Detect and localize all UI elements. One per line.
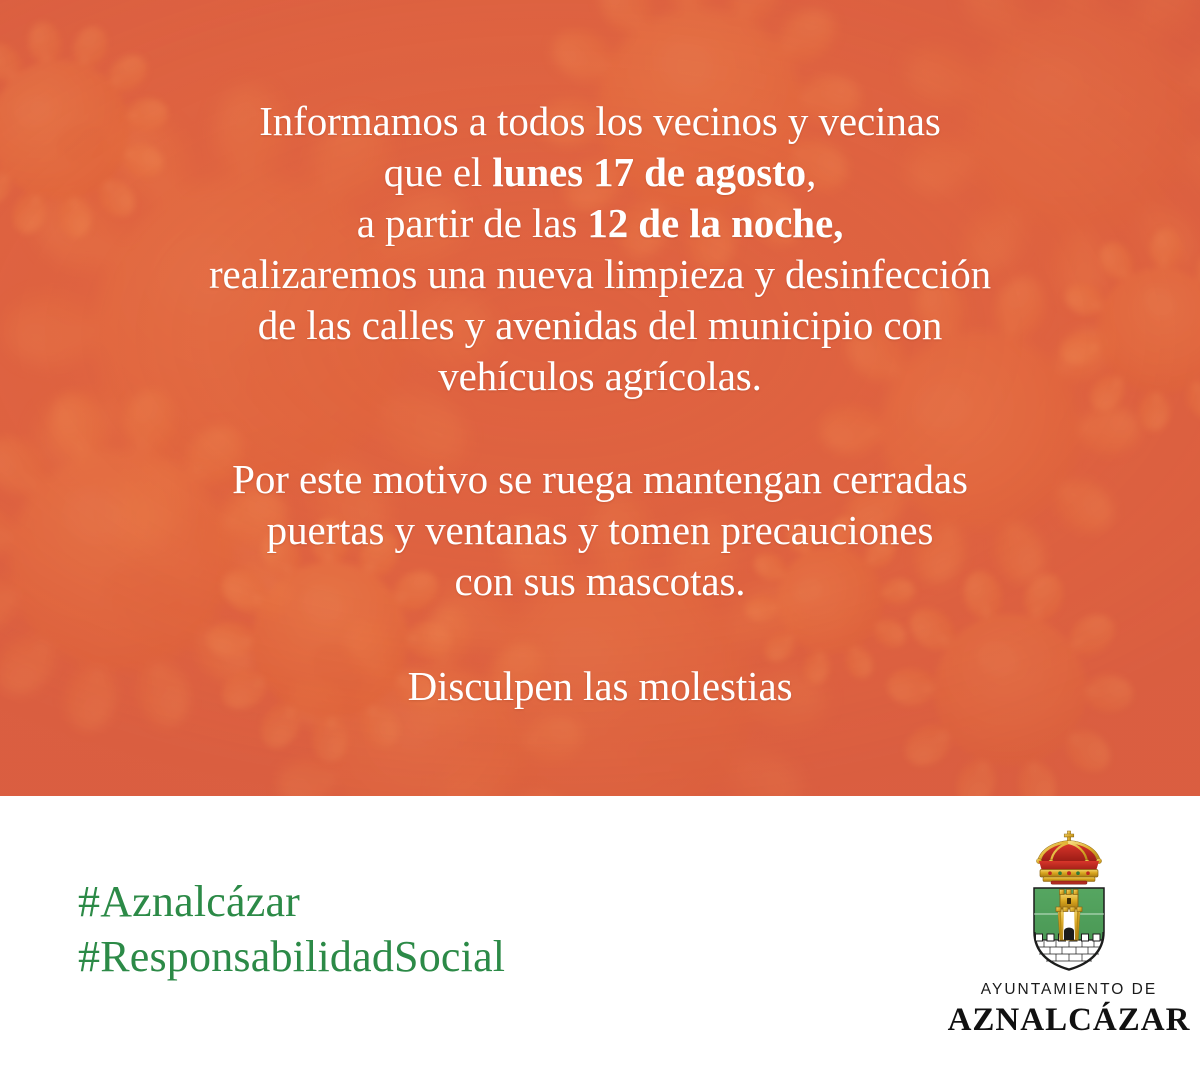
paragraph-spacer-1 xyxy=(0,402,1200,454)
message-line-7: Por este motivo se ruega mantengan cerra… xyxy=(0,454,1200,505)
royal-crown-icon xyxy=(1036,831,1101,884)
message-line-2-emphasis: lunes 17 de agosto xyxy=(492,149,806,195)
message-line-9: con sus mascotas. xyxy=(0,556,1200,607)
ayuntamiento-emblem: AYUNTAMIENTO DE AZNALCÁZAR xyxy=(938,828,1200,1046)
message-line-10: Disculpen las molestias xyxy=(0,661,1200,712)
emblem-caption-main: AZNALCÁZAR xyxy=(938,1001,1200,1039)
emblem-graphic xyxy=(938,828,1200,980)
message-line-8: puertas y ventanas y tomen precauciones xyxy=(0,505,1200,556)
poster-root: Informamos a todos los vecinos y vecinas… xyxy=(0,0,1200,1066)
hashtag-block: #Aznalcázar #ResponsabilidadSocial xyxy=(78,874,505,984)
announcement-message: Informamos a todos los vecinos y vecinas… xyxy=(0,96,1200,712)
tower-icon xyxy=(1056,890,1082,941)
hashtag-aznalcazar[interactable]: #Aznalcázar xyxy=(78,874,505,929)
emblem-caption: AYUNTAMIENTO DE AZNALCÁZAR xyxy=(938,980,1200,1039)
message-line-4: realizaremos una nueva limpieza y desinf… xyxy=(0,249,1200,300)
hashtag-responsabilidad-social[interactable]: #ResponsabilidadSocial xyxy=(78,929,505,984)
message-line-3-prefix: a partir de las xyxy=(357,200,588,246)
paragraph-spacer-2 xyxy=(0,607,1200,661)
coat-of-arms-icon xyxy=(994,828,1144,978)
shield-icon xyxy=(1034,888,1104,970)
message-line-3: a partir de las 12 de la noche, xyxy=(0,198,1200,249)
message-line-3-emphasis: 12 de la noche, xyxy=(587,200,843,246)
message-line-2-prefix: que el xyxy=(384,149,493,195)
message-line-6: vehículos agrícolas. xyxy=(0,351,1200,402)
emblem-caption-top: AYUNTAMIENTO DE xyxy=(938,980,1200,1000)
hero-panel: Informamos a todos los vecinos y vecinas… xyxy=(0,0,1200,796)
message-line-5: de las calles y avenidas del municipio c… xyxy=(0,300,1200,351)
footer-bar: #Aznalcázar #ResponsabilidadSocial xyxy=(0,796,1200,1066)
message-line-1: Informamos a todos los vecinos y vecinas xyxy=(0,96,1200,147)
message-line-2-suffix: , xyxy=(806,149,816,195)
message-line-2: que el lunes 17 de agosto, xyxy=(0,147,1200,198)
